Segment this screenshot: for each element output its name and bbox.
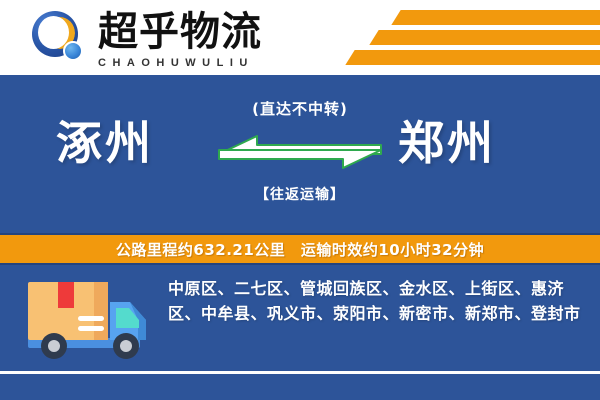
chaohu-circle-logo-icon xyxy=(32,11,90,66)
distance-duration-bar: 公路里程约632.21公里 运输时效约10小时32分钟 xyxy=(0,233,600,265)
direct-shipping-note: (直达不中转) xyxy=(215,98,385,119)
delivery-truck-icon xyxy=(26,276,158,362)
origin-city-label: 涿州 xyxy=(56,114,154,172)
duration-label: 运输时效约10小时32分钟 xyxy=(301,239,484,260)
banner-header: 超乎物流 CHAOHUWULIU xyxy=(0,0,600,75)
stripe-3 xyxy=(345,50,600,65)
roundtrip-note: 【往返运输】 xyxy=(215,184,385,204)
route-middle-block: (直达不中转) 【往返运输】 xyxy=(215,98,385,218)
stripe-1 xyxy=(391,10,600,25)
logo-blue-dot xyxy=(63,41,83,61)
logistics-route-banner: 超乎物流 CHAOHUWULIU 涿州 (直达不中转) 【往返运输】 郑州 公 xyxy=(0,0,600,400)
brand-name-en: CHAOHUWULIU xyxy=(98,56,262,70)
bottom-divider xyxy=(0,371,600,374)
info-separator xyxy=(285,239,301,260)
brand-name-cn: 超乎物流 xyxy=(98,10,262,54)
orange-speed-stripes-icon xyxy=(300,8,600,70)
distance-label: 公路里程约632.21公里 xyxy=(116,239,285,260)
destination-city-label: 郑州 xyxy=(398,114,496,172)
stripe-2 xyxy=(369,30,600,45)
brand-lockup: 超乎物流 CHAOHUWULIU xyxy=(98,10,262,70)
bidirectional-arrow-icon xyxy=(217,128,383,176)
coverage-districts-text: 中原区、二七区、管城回族区、金水区、上街区、惠济区、中牟县、巩义市、荥阳市、新密… xyxy=(168,276,588,326)
route-row: 涿州 (直达不中转) 【往返运输】 郑州 xyxy=(0,98,600,218)
